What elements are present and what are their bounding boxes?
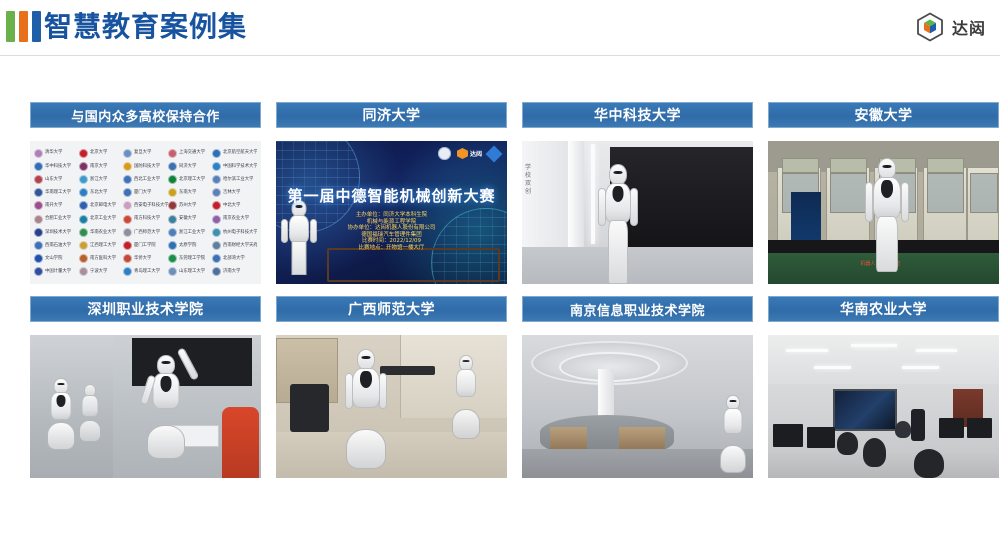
university-logo-item: 华南农业大学 xyxy=(79,226,124,238)
university-logo-item: 山东大学 xyxy=(34,173,79,185)
robot-torso xyxy=(81,395,98,417)
university-logo-item: 北京邮电大学 xyxy=(79,200,124,212)
university-seal-icon xyxy=(34,188,43,197)
university-name: 济南大学 xyxy=(223,270,240,274)
university-name: 西北工业大学 xyxy=(134,177,160,181)
university-logo-item: 东南大学 xyxy=(168,187,213,199)
university-logo-item: 南方医科大学 xyxy=(79,253,124,265)
university-seal-icon xyxy=(212,162,221,171)
university-name: 复旦大学 xyxy=(134,151,151,155)
robot-mobile-base xyxy=(79,420,101,442)
university-name: 吉林大学 xyxy=(223,191,240,195)
robot-head xyxy=(609,164,627,185)
robot-eyes xyxy=(362,356,371,359)
university-seal-icon xyxy=(79,175,88,184)
university-seal-icon xyxy=(123,267,132,276)
pillar xyxy=(568,141,584,264)
university-name: 北京理工大学 xyxy=(179,177,205,181)
university-logo-item: 西南石油大学 xyxy=(34,239,79,251)
university-name: 清华大学 xyxy=(45,151,62,155)
university-logo-item: 厦门工学院 xyxy=(123,239,168,251)
university-seal-icon xyxy=(123,241,132,250)
person-figure xyxy=(222,407,259,479)
case-card-guangxi-normal-university[interactable]: 广西师范大学 xyxy=(276,296,507,478)
university-seal-icon xyxy=(168,215,177,224)
university-logo-item: 北京理工大学 xyxy=(168,173,213,185)
storage-box xyxy=(830,158,867,173)
poster-detail-line: 比赛地点：开物馆一楼大厅 xyxy=(276,245,507,253)
university-name: 西安电子科技大学 xyxy=(134,204,168,208)
case-banner-label: 深圳职业技术学院 xyxy=(30,296,261,322)
showroom-scene xyxy=(30,335,261,478)
computer-lab-scene xyxy=(768,335,999,478)
university-seal-icon xyxy=(34,162,43,171)
robot-figure xyxy=(720,395,746,471)
robot-arm-left xyxy=(598,188,606,226)
poster-title: 第一届中德智能机械创新大赛 xyxy=(276,185,507,206)
poster-sponsor-logos: 达闼 xyxy=(438,147,500,160)
presentation-screen xyxy=(833,389,897,430)
robot-arm-left xyxy=(865,182,873,222)
university-seal-icon xyxy=(79,215,88,224)
university-name: 华中科技大学 xyxy=(45,164,71,168)
robot-eyes xyxy=(58,383,65,385)
university-logo-item: 西北工业大学 xyxy=(123,173,168,185)
case-grid: 与国内众多高校保持合作 清华大学北京大学复旦大学上海交通大学北京航空航天大学华中… xyxy=(30,102,970,490)
university-seal-icon xyxy=(79,267,88,276)
university-logo-item: 东莞理工学院 xyxy=(168,253,213,265)
dayu-brand-icon: 达闼 xyxy=(457,148,482,159)
university-seal-icon xyxy=(34,228,43,237)
university-name: 文山学院 xyxy=(45,257,62,261)
university-seal-icon xyxy=(212,188,221,197)
university-logo-item: 上海交通大学 xyxy=(168,147,213,159)
university-name: 浙江大学 xyxy=(90,177,107,181)
floor xyxy=(522,449,753,478)
university-name: 南方科技大学 xyxy=(134,217,160,221)
university-logo-item: 国防科技大学 xyxy=(123,160,168,172)
university-logo-item: 同济大学 xyxy=(168,160,213,172)
university-seal-icon xyxy=(212,241,221,250)
student-figure xyxy=(863,438,886,467)
university-logo-item: 江西理工大学 xyxy=(79,239,124,251)
chair-with-student xyxy=(290,384,329,433)
university-seal-icon xyxy=(212,228,221,237)
robot-arm-right xyxy=(901,182,909,222)
computer-monitor xyxy=(773,424,803,447)
university-seal-icon xyxy=(34,241,43,250)
ceiling-light xyxy=(902,366,939,369)
university-seal-icon xyxy=(79,241,88,250)
university-seal-icon xyxy=(168,149,177,158)
university-name: 南方医科大学 xyxy=(90,257,116,261)
university-name: 苏州大学 xyxy=(179,204,196,208)
university-name: 安徽大学 xyxy=(179,217,196,221)
university-logo-item: 杭州电子科技大学 xyxy=(212,226,257,238)
student-figure xyxy=(837,432,858,455)
case-thumbnail-round-ceiling-hall[interactable] xyxy=(522,335,753,478)
university-seal-icon xyxy=(123,254,132,263)
university-logo-item: 华侨大学 xyxy=(123,253,168,265)
university-seal-icon xyxy=(79,162,88,171)
case-banner-label: 安徽大学 xyxy=(768,102,999,128)
case-card-nanjing-vocational-college[interactable]: 南京信息职业技术学院 xyxy=(522,296,753,478)
case-card-anhui-university[interactable]: 安徽大学 机器人创新实验室 xyxy=(768,102,999,284)
university-logo-item: 文山学院 xyxy=(34,253,79,265)
university-logo-item: 南京大学 xyxy=(79,160,124,172)
university-seal-icon xyxy=(34,149,43,158)
classroom-scene xyxy=(276,335,507,478)
university-name: 合肥工业大学 xyxy=(45,217,71,221)
computer-monitor xyxy=(807,427,835,448)
university-seal-icon xyxy=(79,228,88,237)
university-seal-icon xyxy=(212,149,221,158)
storage-box xyxy=(927,158,964,173)
university-name: 东南大学 xyxy=(179,191,196,195)
university-seal-icon xyxy=(79,149,88,158)
university-seal-icon xyxy=(123,162,132,171)
university-logo-wall: 清华大学北京大学复旦大学上海交通大学北京航空航天大学华中科技大学南京大学国防科技… xyxy=(30,141,261,284)
poster-detail-lines: 主办单位：同济大学本科生院机械与能源工程学院协办单位：达闼机器人股份有限公司德国… xyxy=(276,213,507,253)
case-row-2: 深圳职业技术学院 xyxy=(30,296,970,478)
case-thumbnail-classroom-robots[interactable] xyxy=(276,335,507,478)
university-logo-item: 南京农业大学 xyxy=(212,213,257,225)
case-thumbnail-competition-poster[interactable]: 达闼 第一届中德智能机械创新大赛 主办单位：同济大学本科生院机械与能源工程学院协… xyxy=(276,141,507,284)
robot-arm-left xyxy=(345,373,353,409)
university-seal-icon xyxy=(168,188,177,197)
university-seal-icon xyxy=(79,201,88,210)
university-name: 东莞理工学院 xyxy=(179,257,205,261)
student-figure xyxy=(914,449,944,478)
case-card-shenzhen-polytechnic[interactable]: 深圳职业技术学院 xyxy=(30,296,261,478)
university-logo-item: 南开大学 xyxy=(34,200,79,212)
university-logo-item: 浙江工业大学 xyxy=(168,226,213,238)
case-banner-label: 广西师范大学 xyxy=(276,296,507,322)
robot-mobile-base xyxy=(47,422,75,450)
page-title: 智慧教育案例集 xyxy=(44,8,247,46)
university-name: 南开大学 xyxy=(45,204,62,208)
case-banner-label: 华南农业大学 xyxy=(768,296,999,322)
accent-bar-orange xyxy=(19,11,28,42)
university-logo-item: 哈尔滨工业大学 xyxy=(212,173,257,185)
university-logo-item: 安徽大学 xyxy=(168,213,213,225)
university-logo-item: 广西师范大学 xyxy=(123,226,168,238)
university-name: 北京大学 xyxy=(90,151,107,155)
ceiling-light xyxy=(786,349,828,352)
university-logo-item: 中国计量大学 xyxy=(34,266,79,278)
computer-monitor xyxy=(967,418,992,438)
university-logo-item: 华中科技大学 xyxy=(34,160,79,172)
robot-torso xyxy=(724,408,743,434)
university-name: 厦门大学 xyxy=(134,191,151,195)
wall-poster xyxy=(791,192,821,243)
robot-mobile-base xyxy=(720,445,746,473)
robot-figure xyxy=(598,164,638,282)
university-name: 青岛理工大学 xyxy=(134,270,160,274)
robot-figure-main xyxy=(345,349,387,469)
university-logo-item: 宁波大学 xyxy=(79,266,124,278)
university-name: 华侨大学 xyxy=(134,257,151,261)
university-seal-icon xyxy=(123,175,132,184)
storage-box xyxy=(782,158,819,173)
university-logo-item: 深圳技术大学 xyxy=(34,226,79,238)
robot-arm-right xyxy=(379,373,387,409)
university-logo-item: 山东理工大学 xyxy=(168,266,213,278)
university-name: 哈尔滨工业大学 xyxy=(223,177,253,181)
university-name: 浙江工业大学 xyxy=(179,230,205,234)
university-seal-icon xyxy=(212,175,221,184)
university-logo-item: 济南大学 xyxy=(212,266,257,278)
university-seal-icon xyxy=(212,267,221,276)
case-card-huazhong-university[interactable]: 华中科技大学 学校双创 xyxy=(522,102,753,284)
university-logo-item: 华南理工大学 xyxy=(34,187,79,199)
robot-head xyxy=(357,349,375,370)
robot-figure-secondary xyxy=(452,355,480,439)
hexagon-mark-icon xyxy=(457,148,468,159)
robot-torso xyxy=(456,369,476,397)
robot-eyes xyxy=(161,361,170,364)
university-logo-item: 北京大学 xyxy=(79,147,124,159)
university-seal-icon xyxy=(79,254,88,263)
university-logo-item: 合肥工业大学 xyxy=(34,213,79,225)
robot-arm-right xyxy=(630,188,638,226)
header-divider xyxy=(0,55,1000,56)
university-seal-icon xyxy=(168,267,177,276)
wooden-desk xyxy=(619,427,665,450)
university-seal-icon xyxy=(34,175,43,184)
brand-name: 达闼 xyxy=(952,15,986,39)
university-name: 上海交通大学 xyxy=(179,151,205,155)
university-seal-icon xyxy=(34,267,43,276)
page-header: 智慧教育案例集 达闼 xyxy=(0,0,1000,56)
university-logo-item: 清华大学 xyxy=(34,147,79,159)
university-seal-icon xyxy=(212,201,221,210)
case-banner-label: 与国内众多高校保持合作 xyxy=(30,102,261,128)
university-name: 宁波大学 xyxy=(90,270,107,274)
university-seal-icon xyxy=(123,201,132,210)
university-logo-item: 中国科学技术大学 xyxy=(212,160,257,172)
university-name: 太原学院 xyxy=(179,243,196,247)
university-name: 广西师范大学 xyxy=(134,230,160,234)
robot-eyes xyxy=(462,360,469,362)
robot-chest-plate xyxy=(360,371,372,388)
case-card-south-china-agricultural[interactable]: 华南农业大学 xyxy=(768,296,999,478)
teacher-figure xyxy=(911,409,925,440)
robot-mobile-base xyxy=(346,429,386,469)
case-banner-label: 同济大学 xyxy=(276,102,507,128)
laboratory-scene: 机器人创新实验室 xyxy=(768,141,999,284)
poster-scene: 达闼 第一届中德智能机械创新大赛 主办单位：同济大学本科生院机械与能源工程学院协… xyxy=(276,141,507,284)
university-seal-icon xyxy=(168,241,177,250)
university-seal-icon xyxy=(438,147,451,160)
university-name: 南京农业大学 xyxy=(223,217,249,221)
university-seal-icon xyxy=(168,162,177,171)
university-name: 北京航空航天大学 xyxy=(223,151,257,155)
accent-bar-blue xyxy=(32,11,41,42)
university-name: 西南财经大学天府学院 xyxy=(223,243,257,247)
university-seal-icon xyxy=(123,188,132,197)
university-logo-item: 西安电子科技大学 xyxy=(123,200,168,212)
university-seal-icon xyxy=(79,188,88,197)
case-thumbnail-university-logo-wall[interactable]: 清华大学北京大学复旦大学上海交通大学北京航空航天大学华中科技大学南京大学国防科技… xyxy=(30,141,261,284)
university-seal-icon xyxy=(123,215,132,224)
atrium-scene xyxy=(522,335,753,478)
robot-eyes xyxy=(883,165,892,168)
university-seal-icon xyxy=(34,254,43,263)
robot-chest-plate xyxy=(613,186,624,202)
ceiling xyxy=(768,335,999,384)
university-name: 山东大学 xyxy=(45,177,62,181)
robot-eyes xyxy=(614,171,623,174)
computer-monitor xyxy=(939,418,964,438)
robot-chest-plate xyxy=(57,395,66,407)
university-logo-item: 南方科技大学 xyxy=(123,213,168,225)
robot-chest-plate xyxy=(160,376,171,392)
university-seal-icon xyxy=(123,149,132,158)
robot-figure-secondary xyxy=(79,384,101,442)
university-logo-item: 浙江大学 xyxy=(79,173,124,185)
robot-figure xyxy=(865,158,909,268)
university-logo-item: 厦门大学 xyxy=(123,187,168,199)
case-thumbnail-computer-classroom[interactable] xyxy=(768,335,999,478)
brand-lockup: 达闼 xyxy=(915,12,986,42)
partner-logo-icon xyxy=(486,145,503,162)
robot-figure-main xyxy=(146,355,186,459)
university-name: 北京邮电大学 xyxy=(90,204,116,208)
university-name: 南京大学 xyxy=(90,164,107,168)
wooden-desk xyxy=(550,427,587,450)
university-logo-item: 吉林大学 xyxy=(212,187,257,199)
case-card-partner-universities[interactable]: 与国内众多高校保持合作 清华大学北京大学复旦大学上海交通大学北京航空航天大学华中… xyxy=(30,102,261,284)
university-logo-item: 太原学院 xyxy=(168,239,213,251)
robot-head xyxy=(878,158,896,179)
university-logo-item: 北京工业大学 xyxy=(79,213,124,225)
student-figure xyxy=(895,421,911,438)
accent-bar-green xyxy=(6,11,15,42)
university-seal-icon xyxy=(34,215,43,224)
university-name: 杭州电子科技大学 xyxy=(223,230,257,234)
university-name: 华南理工大学 xyxy=(45,191,71,195)
university-name: 厦门工学院 xyxy=(134,243,156,247)
university-name: 山东理工大学 xyxy=(179,270,205,274)
scene-caption: 学校双创 xyxy=(525,164,533,196)
robot-legs xyxy=(876,216,898,272)
robot-legs xyxy=(608,220,628,284)
lectern-desk xyxy=(380,366,435,375)
university-name: 同济大学 xyxy=(179,164,196,168)
university-name: 西南石油大学 xyxy=(45,243,71,247)
light-strip-vertical xyxy=(591,144,595,244)
university-seal-icon xyxy=(34,201,43,210)
accent-bars-icon xyxy=(6,11,41,42)
university-logo-item: 北京航空航天大学 xyxy=(212,147,257,159)
university-logo-item: 复旦大学 xyxy=(123,147,168,159)
university-logo-item: 东北大学 xyxy=(79,187,124,199)
robot-head xyxy=(157,355,175,375)
robot-figure xyxy=(46,378,76,450)
ceiling-light xyxy=(916,349,958,352)
university-name: 中北大学 xyxy=(223,204,240,208)
university-name: 江西理工大学 xyxy=(90,243,116,247)
poster-brand-text: 达闼 xyxy=(470,149,482,158)
robot-eyes xyxy=(730,400,737,402)
university-seal-icon xyxy=(212,215,221,224)
university-name: 中国计量大学 xyxy=(45,270,71,274)
robot-chest-plate xyxy=(881,180,893,198)
university-name: 国防科技大学 xyxy=(134,164,160,168)
case-row-1: 与国内众多高校保持合作 清华大学北京大学复旦大学上海交通大学北京航空航天大学华中… xyxy=(30,102,970,284)
case-banner-label: 南京信息职业技术学院 xyxy=(522,296,753,322)
university-logo-item: 苏州大学 xyxy=(168,200,213,212)
university-seal-icon xyxy=(123,228,132,237)
case-thumbnail-split-showroom[interactable] xyxy=(30,335,261,478)
case-card-tongji-university[interactable]: 同济大学 达闼 第一届中德智能机械创新大赛 主办单位：同济大学本科生院机 xyxy=(276,102,507,284)
hallway-scene: 学校双创 xyxy=(522,141,753,284)
university-name: 深圳技术大学 xyxy=(45,230,71,234)
university-logo-item: 青岛理工大学 xyxy=(123,266,168,278)
case-thumbnail-cabinet-lab[interactable]: 机器人创新实验室 xyxy=(768,141,999,284)
university-seal-icon xyxy=(168,254,177,263)
university-seal-icon xyxy=(168,228,177,237)
ceiling-light xyxy=(851,344,897,347)
university-name: 东北大学 xyxy=(90,191,107,195)
university-logo-item: 中北大学 xyxy=(212,200,257,212)
ceiling-light xyxy=(814,366,851,369)
university-seal-icon xyxy=(168,175,177,184)
university-logo-item: 北部湾大学 xyxy=(212,253,257,265)
university-logo-item: 西南财经大学天府学院 xyxy=(212,239,257,251)
university-name: 中国科学技术大学 xyxy=(223,164,257,168)
robot-mobile-base xyxy=(147,425,185,459)
floor xyxy=(276,432,507,478)
case-thumbnail-hallway-robot[interactable]: 学校双创 xyxy=(522,141,753,284)
university-name: 北部湾大学 xyxy=(223,257,245,261)
university-name: 华南农业大学 xyxy=(90,230,116,234)
university-seal-icon xyxy=(168,201,177,210)
university-seal-icon xyxy=(212,254,221,263)
robot-mobile-base xyxy=(452,409,480,439)
university-name: 北京工业大学 xyxy=(90,217,116,221)
case-banner-label: 华中科技大学 xyxy=(522,102,753,128)
hexagon-cube-logo-icon xyxy=(915,12,945,42)
